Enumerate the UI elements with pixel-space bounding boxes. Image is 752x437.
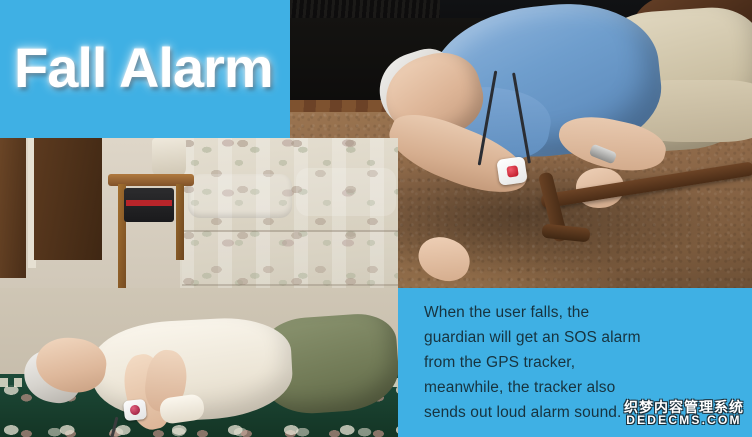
wooden-cabinet <box>0 138 26 278</box>
elderly-woman-fallen-photo <box>0 138 398 437</box>
answering-machine-red-strip <box>126 200 172 206</box>
caption-panel: When the user falls, the guardian will g… <box>398 288 752 437</box>
watermark: 织梦内容管理系统 DEDECMS.COM <box>624 400 744 427</box>
sos-pendant-icon <box>123 399 147 421</box>
watermark-chinese: 织梦内容管理系统 <box>624 400 744 415</box>
table-lamp <box>152 138 186 178</box>
watermark-english: DEDECMS.COM <box>624 414 744 427</box>
sofa-seat <box>182 230 398 286</box>
sofa-cushion-left <box>188 174 292 218</box>
caption-line: guardian will get an SOS alarm <box>424 325 752 350</box>
caption-line: meanwhile, the tracker also <box>424 375 752 400</box>
caption-line: from the GPS tracker, <box>424 350 752 375</box>
sos-button-icon <box>506 165 518 177</box>
title-band: Fall Alarm <box>0 0 290 138</box>
fall-alarm-poster: Fall Alarm When the user falls, the guar… <box>0 0 752 437</box>
caption-line: When the user falls, the <box>424 300 752 325</box>
sofa-cushion-right <box>296 168 396 216</box>
sos-pendant-icon <box>496 156 527 186</box>
side-table-leg-back <box>176 184 184 260</box>
wooden-door <box>34 138 102 260</box>
sos-button-icon <box>130 405 141 416</box>
page-title: Fall Alarm <box>14 40 273 96</box>
